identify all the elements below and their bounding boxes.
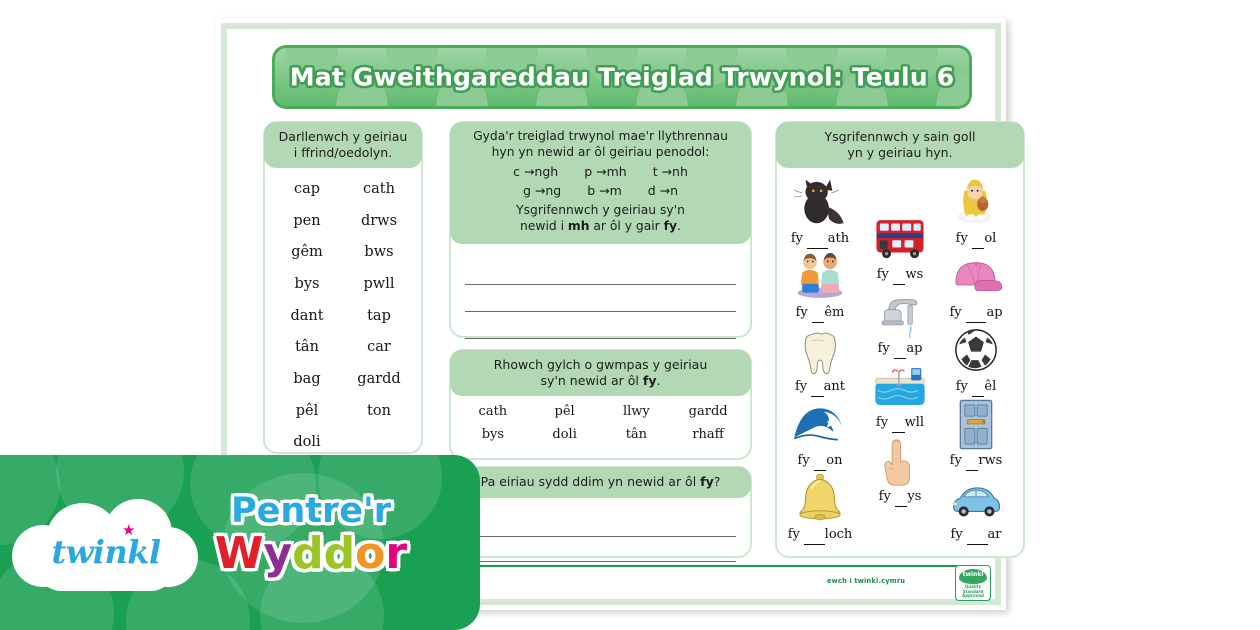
logo-letter: d [324,528,356,579]
picture-label[interactable]: fy loch [781,527,859,545]
picture-item: fy wll [861,358,939,433]
mutation-pair: d →n [648,183,678,199]
badge-sub: Quality Standard Approved [956,585,990,599]
picture-label[interactable]: fy ol [937,231,1015,249]
title-banner: Mat Gweithgareddau Treiglad Trwynol: Teu… [272,45,972,109]
word-item: gardd [343,364,415,396]
circle-heading-bold: fy [643,373,657,388]
answer-line[interactable] [465,512,736,537]
word-item: gêm [271,237,343,269]
word-item: car [343,332,415,364]
logo-letter: r [322,491,339,531]
picture-item: fy rws [937,396,1015,471]
badge-word: twinkl [956,571,990,578]
bell-icon [781,470,859,526]
picture-item: fy ath [781,174,859,249]
circle-word[interactable]: doli [529,424,601,447]
rules-task-bold1: mh [568,219,590,233]
word-item: bws [343,237,415,269]
answer-line[interactable] [465,312,736,339]
pool-icon [861,358,939,414]
question-answer-lines[interactable] [451,498,750,562]
logo-letter: y [263,528,292,579]
logo-letter: e [257,491,281,531]
cap-icon [937,248,1015,304]
answer-line[interactable] [465,285,736,312]
picture-label[interactable]: fy ar [937,527,1015,545]
mutation-pair: g →ng [523,183,561,199]
circle-word[interactable]: cath [457,401,529,424]
circle-word[interactable]: llwy [601,401,673,424]
mutation-pair: c →ngh [513,164,558,180]
finger-icon [861,432,939,488]
word-item: pwll [343,269,415,301]
twinkl-logo[interactable]: ★ twinkl [12,499,200,591]
word-item: cap [271,174,343,206]
word-item: tap [343,301,415,333]
doll-icon [937,174,1015,230]
logo-letter: d [292,528,324,579]
twinkl-branding-overlay: ★ twinkl Pentre'r Wyddor [0,455,480,630]
picture-label[interactable]: fy wll [861,415,939,433]
picture-label[interactable]: fy êl [937,379,1015,397]
mutation-row-1: c →nghp →mht →nh [458,164,743,180]
picture-item: fy loch [781,470,859,545]
question-heading-pre: Pa eiriau sydd ddim yn newid ar ôl [481,474,701,489]
rules-task-post: . [677,219,681,233]
picture-item: fy on [781,396,859,471]
picture-item: fy êm [781,248,859,323]
rules-heading: Gyda'r treiglad trwynol mae'r llythrenna… [450,122,751,244]
logo-letter: ' [363,491,374,531]
word-item: ton [343,396,415,428]
picture-item: fy ys [861,432,939,507]
rules-panel: Gyda'r treiglad trwynol mae'r llythrenna… [449,121,752,338]
word-item: drws [343,206,415,238]
mutation-pair: p →mh [584,164,626,180]
picture-label[interactable]: fy êm [781,305,859,323]
rules-task-bold2: fy [664,219,677,233]
word-list-heading: Darllenwch y geiriau i ffrind/oedolyn. [264,122,422,168]
circle-word[interactable]: rhaff [672,424,744,447]
word-list-grid: capcathpendrwsgêmbwsbyspwlldanttaptâncar… [265,168,421,458]
picture-item: fy êl [937,322,1015,397]
word-item: bag [271,364,343,396]
circle-heading-pre: sy'n newid ar ôl [541,373,643,388]
word-item: tân [271,332,343,364]
logo-line-1: Pentre'r [206,491,416,531]
word-list-panel: Darllenwch y geiriau i ffrind/oedolyn. c… [263,121,423,454]
pictures-heading: Ysgrifennwch y sain goll yn y geiriau hy… [776,122,1024,168]
word-item: cath [343,174,415,206]
logo-letter: P [231,491,257,531]
answer-line[interactable] [465,537,736,562]
logo-letter: e [339,491,363,531]
mutation-row-2: g →ngb →md →n [458,183,743,199]
question-heading-bold: fy [700,474,714,489]
mutation-pair: b →m [587,183,622,199]
page-title: Mat Gweithgareddau Treiglad Trwynol: Teu… [272,63,972,92]
word-item: pêl [271,396,343,428]
picture-label[interactable]: fy ws [861,267,939,285]
circle-word[interactable]: pêl [529,401,601,424]
picture-item: fy ws [861,210,939,285]
word-item: bys [271,269,343,301]
circle-word[interactable]: gardd [672,401,744,424]
answer-line[interactable] [465,258,736,285]
rules-task-line2: newid i mh ar ôl y gair fy. [458,219,743,235]
picture-item: fy ant [781,322,859,397]
children-icon [781,248,859,304]
footer: ewch i twinkl.cymru twinkl Quality Stand… [827,563,997,607]
picture-item: fy ol [937,174,1015,249]
question-heading-post: ? [714,474,721,489]
word-item [343,427,415,459]
pictures-panel: Ysgrifennwch y sain goll yn y geiriau hy… [775,121,1025,558]
twinkl-wordmark: twinkl [12,533,200,571]
circle-words-panel: Rhowch gylch o gwmpas y geiriau sy'n new… [449,349,752,460]
circle-words-grid: cathpêlllwygarddbysdolitânrhaff [451,396,750,447]
rules-task-line1: Ysgrifennwch y geiriau sy'n [458,203,743,219]
circle-word[interactable]: tân [601,424,673,447]
pentrer-wyddor-logo[interactable]: Pentre'r Wyddor [206,491,416,601]
football-icon [937,322,1015,378]
logo-letter: r [374,491,391,531]
tooth-icon [781,322,859,378]
word-item: dant [271,301,343,333]
picture-item: fy ap [937,248,1015,323]
wave-icon [781,396,859,452]
tap-icon [861,284,939,340]
pictures-grid: fy athfy wsfy olfy êmfy apfy apfy antfy … [777,168,1023,560]
logo-letter: o [355,528,385,579]
rules-answer-lines[interactable] [451,244,750,339]
twinkl-approved-badge-icon: twinkl Quality Standard Approved [955,565,991,601]
question-heading: Pa eiriau sydd ddim yn newid ar ôl fy? [450,467,751,498]
mutation-pair: t →nh [653,164,688,180]
door-icon [937,396,1015,452]
picture-label[interactable]: fy ap [861,341,939,359]
cat-icon [781,174,859,230]
picture-label[interactable]: fy ant [781,379,859,397]
circle-words-heading: Rhowch gylch o gwmpas y geiriau sy'n new… [450,350,751,396]
picture-item: fy ap [861,284,939,359]
picture-item: fy ar [937,470,1015,545]
logo-line-2: Wyddor [206,528,416,579]
logo-letter: t [305,491,322,531]
picture-label[interactable]: fy ap [937,305,1015,323]
picture-label[interactable]: fy ath [781,231,859,249]
picture-label[interactable]: fy ys [861,489,939,507]
question-panel: Pa eiriau sydd ddim yn newid ar ôl fy? [449,466,752,558]
rules-task-mid: ar ôl y gair [589,219,663,233]
car-icon [937,470,1015,526]
logo-letter: n [280,491,305,531]
picture-label[interactable]: fy rws [937,453,1015,471]
word-item: pen [271,206,343,238]
circle-word[interactable]: bys [457,424,529,447]
logo-letter: W [215,528,264,579]
circle-heading-post: . [656,373,660,388]
bus-icon [861,210,939,266]
rules-task-pre: newid i [520,219,568,233]
word-item: doli [271,427,343,459]
logo-letter: r [385,528,407,579]
picture-label[interactable]: fy on [781,453,859,471]
footer-label[interactable]: ewch i twinkl.cymru [827,577,905,585]
